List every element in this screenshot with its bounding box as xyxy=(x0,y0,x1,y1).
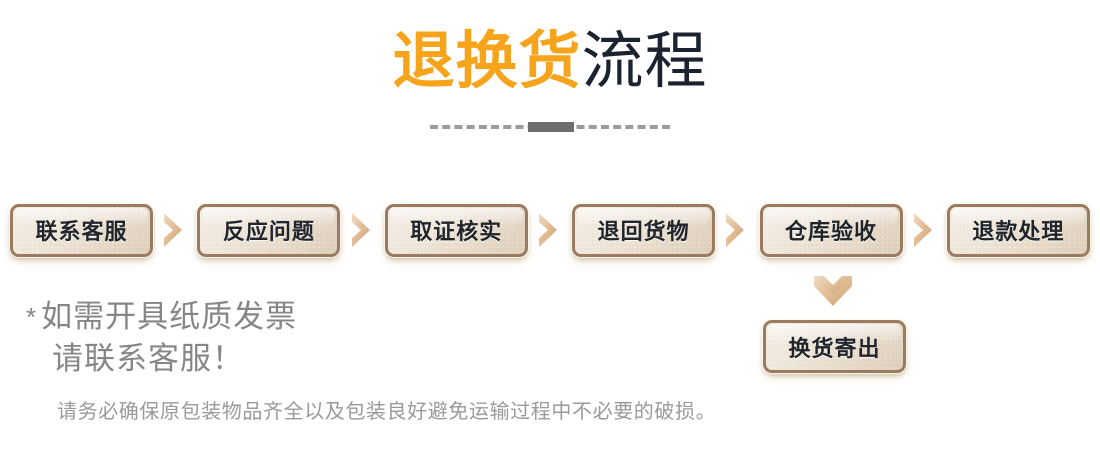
flow-step-label: 反应问题 xyxy=(223,214,315,246)
flow-step-1[interactable]: 联系客服 xyxy=(10,204,153,257)
flow-step-label: 取证核实 xyxy=(410,214,502,246)
flow-step-2[interactable]: 反应问题 xyxy=(197,204,340,257)
chevron-right-icon xyxy=(724,211,750,249)
note-asterisk: * xyxy=(26,302,37,332)
chevron-right-icon xyxy=(162,211,188,249)
flow-step-5[interactable]: 仓库验收 xyxy=(760,204,903,257)
page-title-rest: 流程 xyxy=(582,27,708,96)
flow-steps-row: 联系客服 反应问题 取证核实 xyxy=(10,202,1090,258)
flow-step-4[interactable]: 退回货物 xyxy=(572,204,715,257)
branch-exchange-box[interactable]: 换货寄出 xyxy=(763,320,906,373)
flow-step-label: 仓库验收 xyxy=(785,214,877,246)
invoice-note: *如需开具纸质发票 请联系客服！ xyxy=(26,296,546,380)
note-line-1: 如需开具纸质发票 xyxy=(41,299,297,334)
branch-step-box[interactable]: 换货寄出 xyxy=(763,320,906,373)
returns-flow-infographic: 退换货流程 联系客服 xyxy=(0,0,1100,474)
chevron-right-icon xyxy=(537,211,563,249)
chevron-right-icon xyxy=(912,211,938,249)
packaging-footer-note: 请务必确保原包装物品齐全以及包装良好避免运输过程中不必要的破损。 xyxy=(57,398,716,426)
note-line-2: 请联系客服！ xyxy=(52,338,546,380)
flow-step-label: 退款处理 xyxy=(972,214,1064,246)
divider-center-block xyxy=(528,122,574,132)
chevron-right-icon xyxy=(350,211,376,249)
flow-step-6[interactable]: 退款处理 xyxy=(947,204,1090,257)
branch-step-label: 换货寄出 xyxy=(788,331,880,363)
flow-step-label: 退回货物 xyxy=(598,214,690,246)
page-title: 退换货流程 xyxy=(0,26,1100,98)
title-divider xyxy=(0,120,1100,134)
chevron-down-icon xyxy=(812,274,854,314)
page-title-accent: 退换货 xyxy=(392,27,581,96)
flow-step-3[interactable]: 取证核实 xyxy=(385,204,528,257)
flow-step-label: 联系客服 xyxy=(35,214,127,246)
